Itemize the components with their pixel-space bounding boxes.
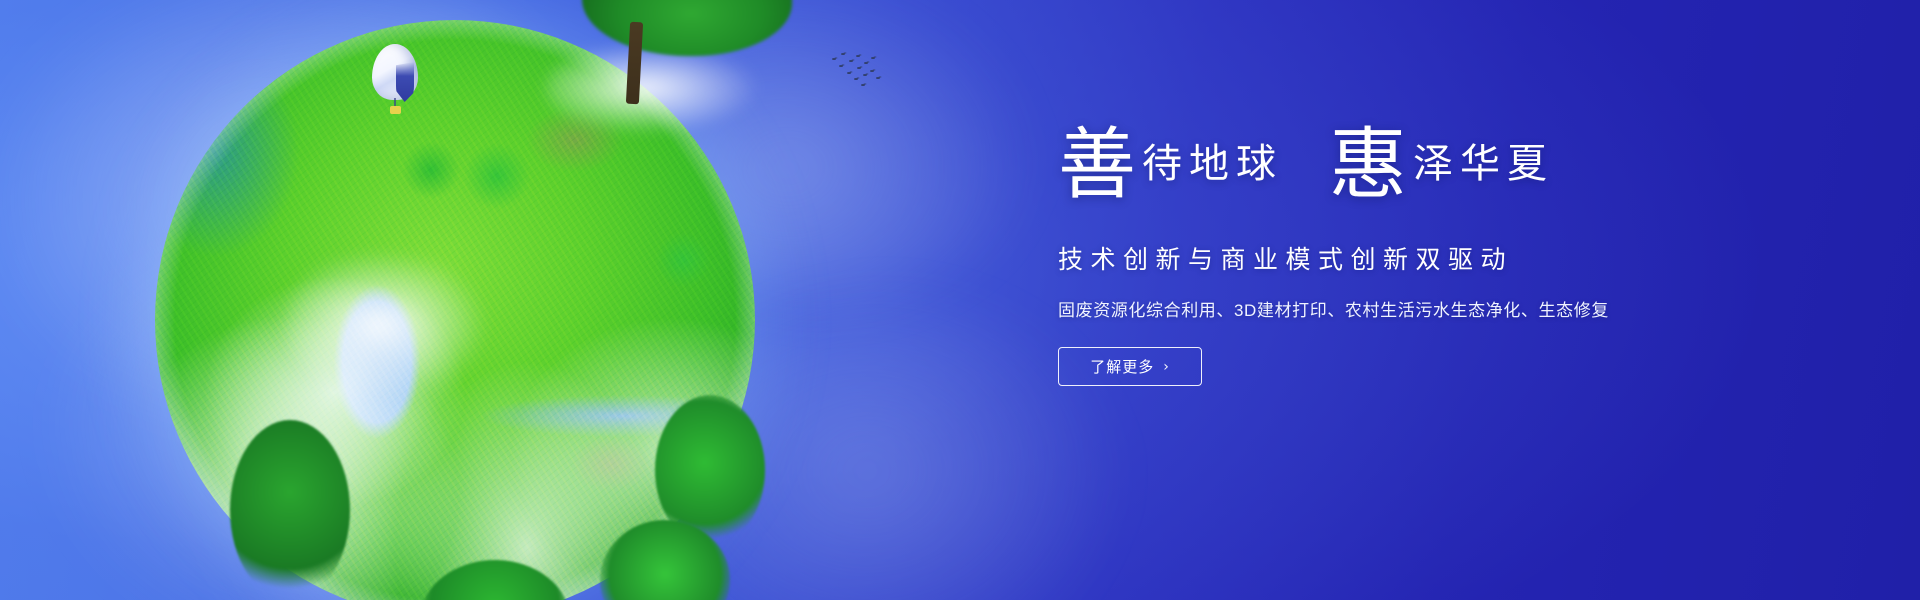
headline-text-1: 待地球: [1142, 141, 1283, 186]
chevron-right-icon: ›: [1163, 359, 1170, 375]
mist: [285, 245, 495, 405]
learn-more-button[interactable]: 了解更多 ›: [1058, 347, 1202, 386]
balloon-basket: [390, 106, 401, 114]
tall-tree-icon: [582, 0, 792, 98]
headline-char-1: 善: [1058, 121, 1136, 208]
learn-more-label: 了解更多: [1090, 356, 1154, 377]
tree-canopy: [582, 0, 792, 56]
bird-flock-icon: [830, 52, 882, 94]
page-title: 善待地球惠泽华夏: [1058, 126, 1798, 218]
headline-text-2: 泽华夏: [1413, 141, 1554, 186]
hero-banner: 善待地球惠泽华夏 技术创新与商业模式创新双驱动 固废资源化综合利用、3D建材打印…: [0, 0, 1920, 600]
banner-subtitle: 技术创新与商业模式创新双驱动: [1058, 240, 1798, 276]
globe-illustration: [130, 0, 790, 600]
headline-char-2: 惠: [1329, 121, 1407, 208]
banner-content: 善待地球惠泽华夏 技术创新与商业模式创新双驱动 固废资源化综合利用、3D建材打印…: [1058, 126, 1798, 386]
tree-icon: [230, 420, 350, 600]
hot-air-balloon-icon: [372, 44, 418, 118]
banner-description: 固废资源化综合利用、3D建材打印、农村生活污水生态净化、生态修复: [1058, 296, 1798, 321]
